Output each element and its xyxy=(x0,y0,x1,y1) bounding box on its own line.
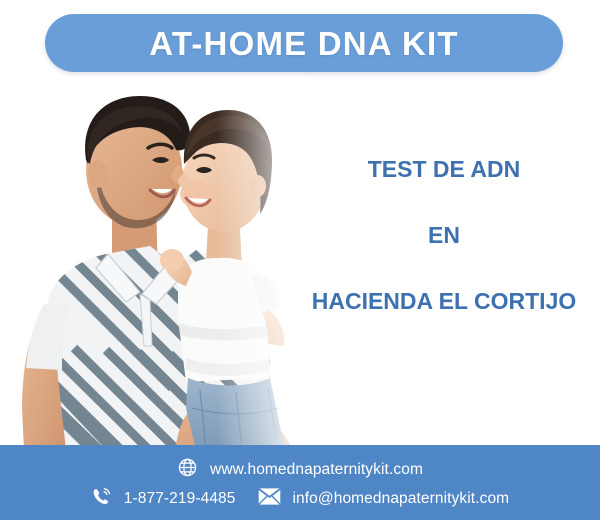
family-photo-illustration xyxy=(0,78,310,450)
website-text: www.homednapaternitykit.com xyxy=(210,461,423,479)
message-line-preposition: EN xyxy=(296,224,592,247)
message-line-service: TEST DE ADN xyxy=(296,158,592,181)
page-title: AT-HOME DNA KIT xyxy=(149,27,458,60)
phone-contact-item[interactable]: 1-877-219-4485 xyxy=(91,486,236,512)
header-banner: AT-HOME DNA KIT xyxy=(45,14,563,72)
footer-website-row: www.homednapaternitykit.com xyxy=(0,457,600,483)
message-block: TEST DE ADN EN HACIENDA EL CORTIJO xyxy=(296,158,592,313)
family-photo xyxy=(0,78,310,450)
email-text: info@homednapaternitykit.com xyxy=(293,490,510,508)
message-line-location: HACIENDA EL CORTIJO xyxy=(296,290,592,313)
globe-icon xyxy=(177,457,198,483)
footer-bar: www.homednapaternitykit.com 1-877-219-44… xyxy=(0,445,600,520)
poster-canvas: AT-HOME DNA KIT xyxy=(0,0,600,520)
website-contact-item[interactable]: www.homednapaternitykit.com xyxy=(177,457,423,483)
footer-contact-row: 1-877-219-4485 info@homednapaternitykit.… xyxy=(0,486,600,512)
phone-text: 1-877-219-4485 xyxy=(124,490,236,508)
envelope-icon xyxy=(258,487,281,511)
email-contact-item[interactable]: info@homednapaternitykit.com xyxy=(258,487,510,511)
phone-icon xyxy=(91,486,112,512)
